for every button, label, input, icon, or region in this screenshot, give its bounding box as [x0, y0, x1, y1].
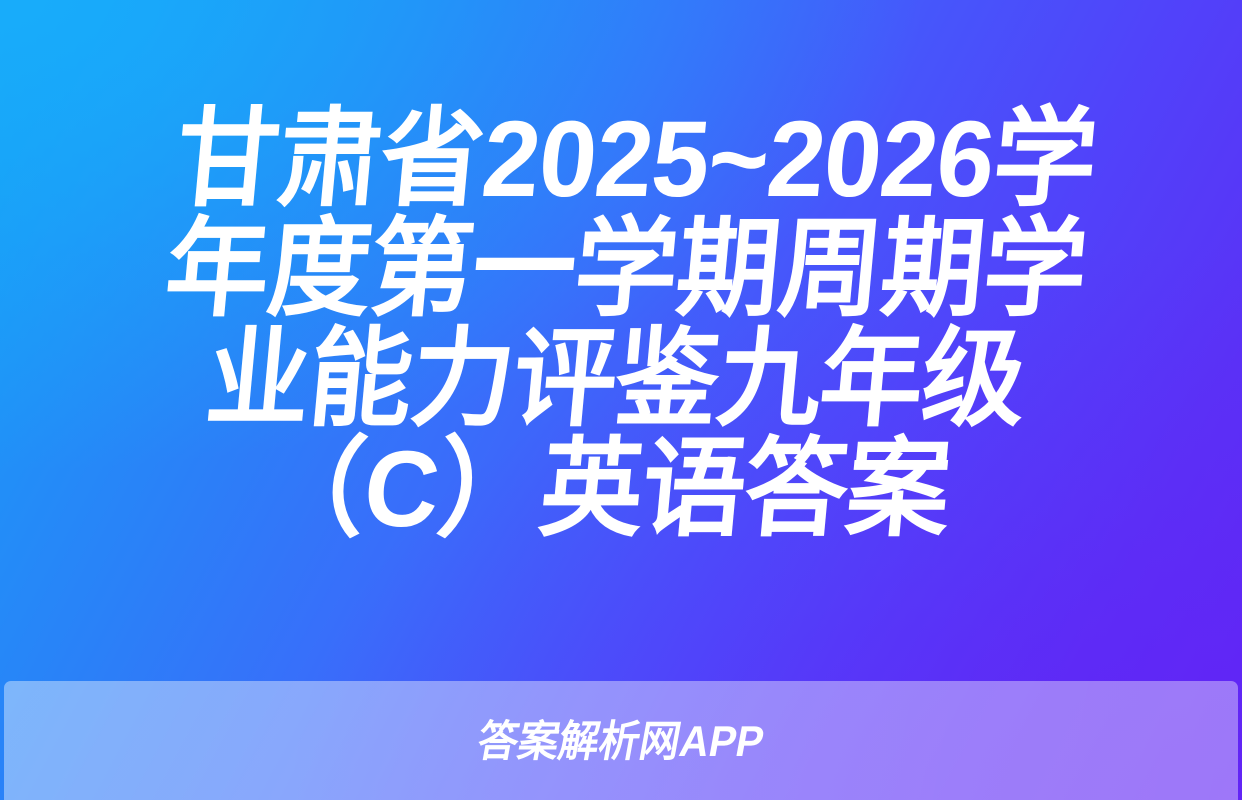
footer-brand-band: 答案解析网APP	[4, 681, 1238, 800]
poster-canvas: 甘肃省2025~2026学年度第一学期周期学业能力评鉴九年级（C）英语答案 答案…	[0, 0, 1242, 800]
footer-brand-label: 答案解析网APP	[474, 719, 768, 765]
page-title: 甘肃省2025~2026学年度第一学期周期学业能力评鉴九年级（C）英语答案	[92, 104, 1150, 544]
poster-title-block: 甘肃省2025~2026学年度第一学期周期学业能力评鉴九年级（C）英语答案	[0, 104, 1242, 544]
